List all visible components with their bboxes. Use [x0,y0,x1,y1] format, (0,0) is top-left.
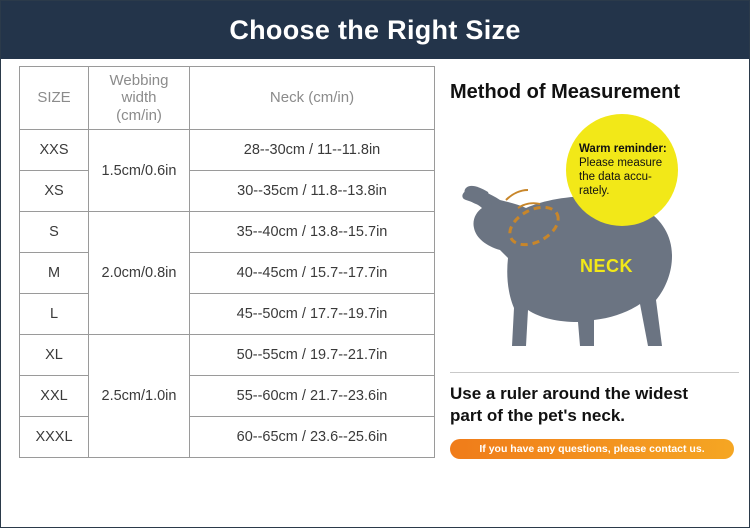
method-title: Method of Measurement [450,81,739,104]
ruler-instruction-line2: part of the pet's neck. [450,405,739,427]
cell-size: L [20,294,89,335]
table-row: M 40--45cm / 15.7--17.7in [20,253,435,294]
dog-illustration: Warm reminder: Please measure the data a… [448,108,748,370]
table-row: XS 30--35cm / 11.8--13.8in [20,171,435,212]
column-header-webbing-width: Webbing width (cm/in) [89,67,190,130]
cell-size: XXS [20,130,89,171]
cell-size: XXXL [20,417,89,458]
cell-neck: 40--45cm / 15.7--17.7in [190,253,435,294]
size-chart-page: Choose the Right Size SIZE Webbing width… [0,0,750,528]
cell-neck: 45--50cm / 17.7--19.7in [190,294,435,335]
table-row: XXXL 60--65cm / 23.6--25.6in [20,417,435,458]
warning-line3: the data accu- [579,171,652,183]
warning-bubble: Warm reminder: Please measure the data a… [566,114,678,226]
cell-webbing-width: 1.5cm/0.6in [89,130,190,212]
warning-text: Warm reminder: Please measure the data a… [577,142,667,198]
warning-line1: Warm reminder: [579,143,667,155]
webbing-header-line3: (cm/in) [89,107,189,124]
size-table: SIZE Webbing width (cm/in) Neck (cm/in) … [19,66,435,458]
neck-label: NECK [580,256,633,277]
cell-webbing-width: 2.0cm/0.8in [89,212,190,335]
cell-neck: 28--30cm / 11--11.8in [190,130,435,171]
page-title: Choose the Right Size [229,15,520,46]
table-header-row: SIZE Webbing width (cm/in) Neck (cm/in) [20,67,435,130]
size-table-section: SIZE Webbing width (cm/in) Neck (cm/in) … [1,59,436,527]
cell-neck: 30--35cm / 11.8--13.8in [190,171,435,212]
table-row: S 2.0cm/0.8in 35--40cm / 13.8--15.7in [20,212,435,253]
measurement-section: Method of Measurement Warm reminder: Ple… [436,59,749,527]
page-body: SIZE Webbing width (cm/in) Neck (cm/in) … [1,59,749,527]
table-row: XXL 55--60cm / 21.7--23.6in [20,376,435,417]
cell-size: XXL [20,376,89,417]
cell-size: M [20,253,89,294]
webbing-header-line2: width [89,89,189,106]
ruler-instruction: Use a ruler around the widest part of th… [450,372,739,427]
cell-neck: 50--55cm / 19.7--21.7in [190,335,435,376]
cell-neck: 35--40cm / 13.8--15.7in [190,212,435,253]
warning-line2: Please measure [579,157,662,169]
column-header-neck: Neck (cm/in) [190,67,435,130]
table-row: XXS 1.5cm/0.6in 28--30cm / 11--11.8in [20,130,435,171]
column-header-size: SIZE [20,67,89,130]
cell-size: XS [20,171,89,212]
table-head: SIZE Webbing width (cm/in) Neck (cm/in) [20,67,435,130]
page-header: Choose the Right Size [1,1,749,59]
webbing-header-line1: Webbing [89,72,189,89]
table-body: XXS 1.5cm/0.6in 28--30cm / 11--11.8in XS… [20,130,435,458]
cell-neck: 55--60cm / 21.7--23.6in [190,376,435,417]
cell-neck: 60--65cm / 23.6--25.6in [190,417,435,458]
table-row: XL 2.5cm/1.0in 50--55cm / 19.7--21.7in [20,335,435,376]
ruler-instruction-line1: Use a ruler around the widest [450,383,739,405]
contact-banner[interactable]: If you have any questions, please contac… [450,439,734,459]
cell-size: XL [20,335,89,376]
table-row: L 45--50cm / 17.7--19.7in [20,294,435,335]
cell-size: S [20,212,89,253]
cell-webbing-width: 2.5cm/1.0in [89,335,190,458]
warning-line4: rately. [579,185,609,197]
